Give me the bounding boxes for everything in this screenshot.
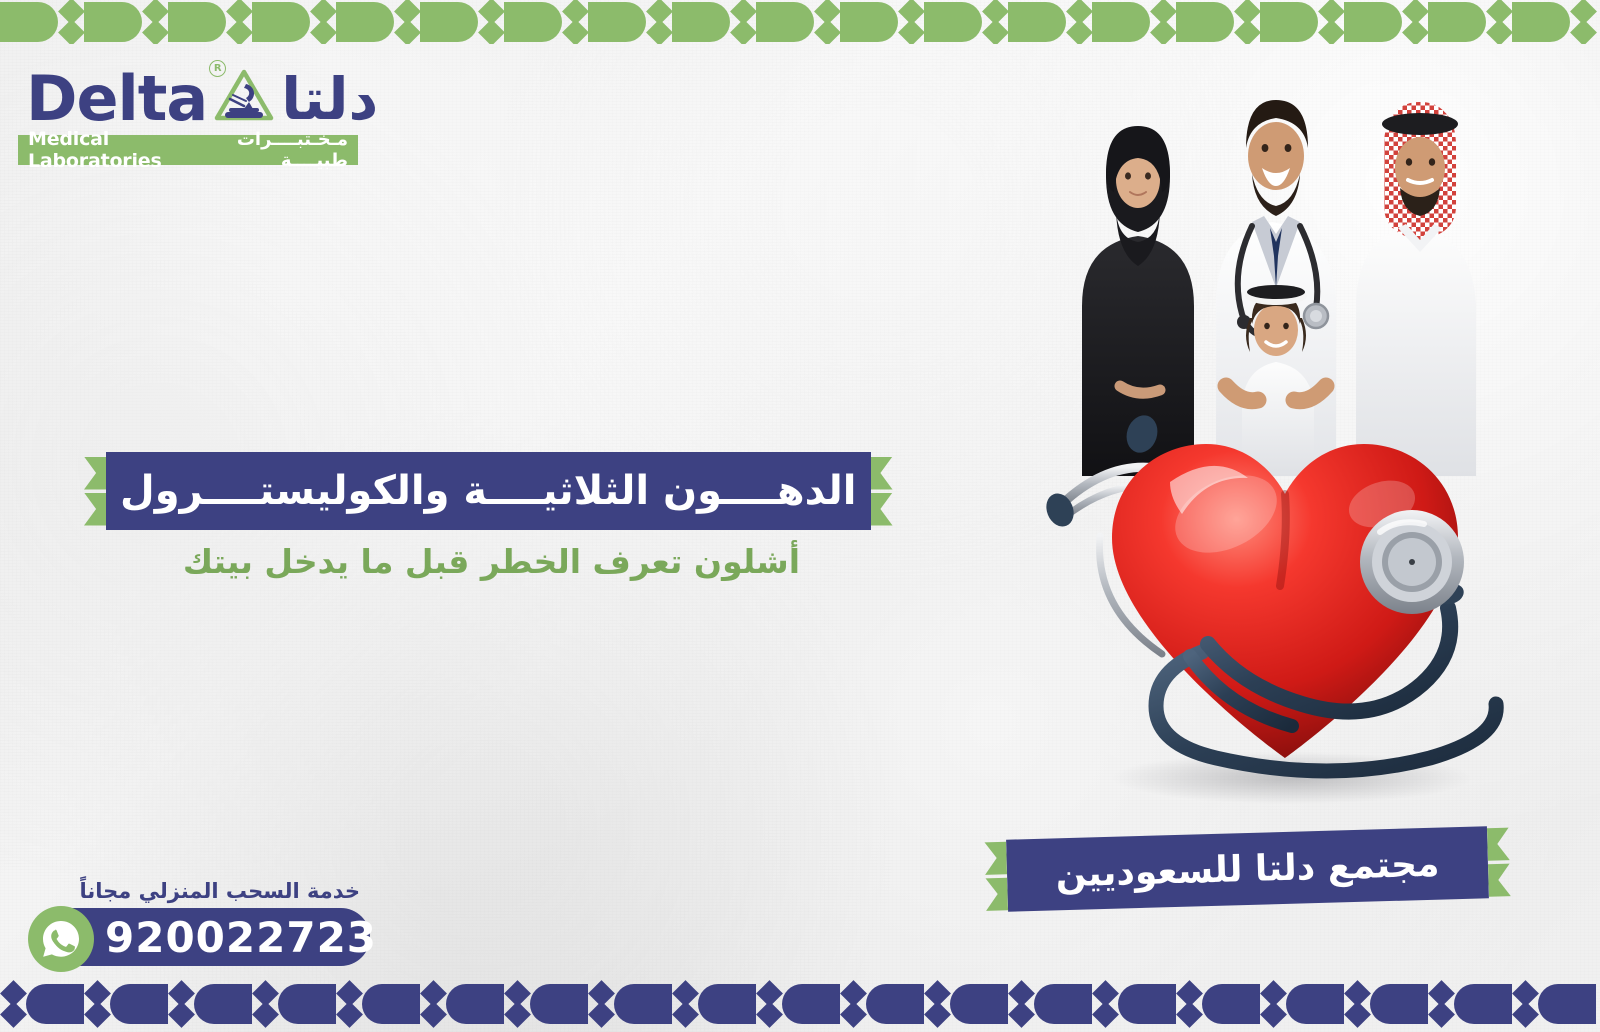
ornament-diamond-icon: [840, 982, 866, 1026]
ornament-unit: [1512, 0, 1596, 44]
ornament-diamond-icon: [1402, 0, 1428, 44]
headline-subtitle: أشلون تعرف الخطر قبل ما يدخل بيتك: [84, 542, 824, 581]
ornament-unit: [924, 982, 1008, 1026]
ornament-unit: [336, 0, 420, 44]
logo-wordmark-row: Delta R دلتا: [18, 58, 358, 130]
ornament-unit: [0, 0, 84, 44]
ornament-diamond-icon: [1260, 982, 1286, 1026]
ornament-diamond-icon: [924, 982, 950, 1026]
microscope-in-triangle-icon: R: [213, 66, 275, 128]
ornament-d-shape-icon: [1454, 984, 1512, 1024]
ornament-d-shape-icon: [252, 2, 310, 42]
ornament-diamond-icon: [226, 0, 252, 44]
ornament-diamond-icon: [478, 0, 504, 44]
top-ornamental-border: [0, 0, 1600, 44]
ornament-diamond-icon: [1008, 982, 1034, 1026]
community-banner: مجتمع دلتا للسعوديين: [984, 826, 1511, 913]
ornament-diamond-icon: [1486, 0, 1512, 44]
ornament-d-shape-icon: [698, 984, 756, 1024]
ornament-d-shape-icon: [1176, 2, 1234, 42]
ornament-d-shape-icon: [336, 2, 394, 42]
ornament-diamond-icon: [588, 982, 614, 1026]
ornament-unit: [1428, 982, 1512, 1026]
ornament-unit: [1092, 0, 1176, 44]
ornament-diamond-icon: [646, 0, 672, 44]
heart-stethoscope-svg: [1030, 386, 1540, 806]
whatsapp-glyph-icon: [39, 917, 83, 961]
ornament-d-shape-icon: [446, 984, 504, 1024]
ornament-diamond-icon: [420, 982, 446, 1026]
ornament-diamond-icon: [672, 982, 698, 1026]
ornament-d-shape-icon: [1260, 2, 1318, 42]
ornament-diamond-icon: [504, 982, 530, 1026]
logo-name-arabic: دلتا: [281, 68, 378, 130]
ornament-unit: [336, 982, 420, 1026]
ornament-unit: [168, 982, 252, 1026]
ornament-unit: [588, 982, 672, 1026]
ornament-unit: [1428, 0, 1512, 44]
right-chevron-ornament-icon: [871, 452, 893, 530]
ornament-d-shape-icon: [1202, 984, 1260, 1024]
ornament-diamond-icon: [898, 0, 924, 44]
ornament-diamond-icon: [562, 0, 588, 44]
delta-logo: Delta R دلتا Medical Laboratories مـخـتب…: [18, 58, 358, 165]
ornament-unit: [84, 982, 168, 1026]
ornament-diamond-icon: [168, 982, 194, 1026]
ornament-diamond-icon: [1318, 0, 1344, 44]
headline-bar: الدهــــون الثلاثيــــة والكوليستــــرول: [106, 452, 871, 530]
ornament-d-shape-icon: [924, 2, 982, 42]
ornament-unit: [588, 0, 672, 44]
ornament-diamond-icon: [730, 0, 756, 44]
ornament-unit: [252, 0, 336, 44]
ornament-diamond-icon: [58, 0, 84, 44]
ornament-d-shape-icon: [1538, 984, 1596, 1024]
headline-banner: الدهــــون الثلاثيــــة والكوليستــــرول: [84, 452, 824, 530]
ornament-diamond-icon: [252, 982, 278, 1026]
ornament-diamond-icon: [756, 982, 782, 1026]
ornament-d-shape-icon: [1428, 2, 1486, 42]
ornament-unit: [1008, 982, 1092, 1026]
logo-tagline-bar: Medical Laboratories مـخـتبــــرات طبيــ…: [18, 135, 358, 165]
ornament-diamond-icon: [394, 0, 420, 44]
ornament-d-shape-icon: [420, 2, 478, 42]
phone-row[interactable]: 920022723: [28, 906, 378, 970]
heart-with-stethoscope: [1030, 386, 1540, 806]
ornament-diamond-icon: [1234, 0, 1260, 44]
phone-number[interactable]: 920022723: [105, 913, 377, 962]
ornament-diamond-icon: [1176, 982, 1202, 1026]
whatsapp-icon[interactable]: [28, 906, 94, 972]
ornament-d-shape-icon: [1344, 2, 1402, 42]
ornament-d-shape-icon: [110, 984, 168, 1024]
ornament-d-shape-icon: [168, 2, 226, 42]
contact-block: خدمة السحب المنزلي مجاناً 920022723: [28, 879, 378, 970]
logo-tagline-arabic: مـخـتبــــرات طبيــــة: [202, 129, 348, 171]
hero-imagery: [1020, 56, 1540, 856]
service-note: خدمة السحب المنزلي مجاناً: [28, 879, 378, 903]
ornament-diamond-icon: [1092, 982, 1118, 1026]
ornament-d-shape-icon: [362, 984, 420, 1024]
ornament-d-shape-icon: [950, 984, 1008, 1024]
ornament-d-shape-icon: [194, 984, 252, 1024]
ornament-unit: [420, 982, 504, 1026]
ornament-diamond-icon: [1150, 0, 1176, 44]
banner-left-chevron-ornament-icon: [984, 840, 1008, 913]
ornament-d-shape-icon: [1118, 984, 1176, 1024]
headline-block: الدهــــون الثلاثيــــة والكوليستــــرول…: [84, 452, 824, 581]
ornament-unit: [1260, 0, 1344, 44]
ornament-unit: [840, 0, 924, 44]
ornament-unit: [1092, 982, 1176, 1026]
phone-pill[interactable]: 920022723: [70, 908, 370, 966]
ornament-unit: [420, 0, 504, 44]
ornament-d-shape-icon: [1370, 984, 1428, 1024]
ornament-d-shape-icon: [504, 2, 562, 42]
ornament-d-shape-icon: [84, 2, 142, 42]
ornament-unit: [504, 982, 588, 1026]
ornament-unit: [1176, 982, 1260, 1026]
advertisement-poster: Delta R دلتا Medical Laboratories مـخـتب…: [0, 0, 1600, 1032]
ornament-unit: [672, 0, 756, 44]
ornament-unit: [504, 0, 588, 44]
ornament-diamond-icon: [84, 982, 110, 1026]
ornament-d-shape-icon: [588, 2, 646, 42]
community-banner-text: مجتمع دلتا للسعوديين: [1055, 843, 1440, 895]
ornament-d-shape-icon: [278, 984, 336, 1024]
ornament-unit: [1008, 0, 1092, 44]
left-chevron-ornament-icon: [84, 452, 106, 530]
ornament-unit: [1260, 982, 1344, 1026]
ornament-diamond-icon: [1428, 982, 1454, 1026]
logo-name-english: Delta: [26, 68, 207, 130]
ornament-d-shape-icon: [672, 2, 730, 42]
ornament-unit: [756, 982, 840, 1026]
ornament-d-shape-icon: [866, 984, 924, 1024]
ornament-d-shape-icon: [1092, 2, 1150, 42]
ornament-d-shape-icon: [840, 2, 898, 42]
ornament-diamond-icon: [1066, 0, 1092, 44]
community-banner-bar: مجتمع دلتا للسعوديين: [1006, 826, 1489, 911]
ornament-d-shape-icon: [1512, 2, 1570, 42]
ornament-unit: [1176, 0, 1260, 44]
ornament-d-shape-icon: [0, 2, 58, 42]
bottom-ornamental-border: [0, 976, 1600, 1032]
ornament-diamond-icon: [0, 982, 26, 1026]
ornament-unit: [0, 982, 84, 1026]
ornament-d-shape-icon: [26, 984, 84, 1024]
ornament-diamond-icon: [1570, 0, 1596, 44]
ornament-unit: [756, 0, 840, 44]
ornament-diamond-icon: [336, 982, 362, 1026]
ornament-unit: [168, 0, 252, 44]
ornament-unit: [840, 982, 924, 1026]
ornament-d-shape-icon: [1008, 2, 1066, 42]
ornament-d-shape-icon: [1286, 984, 1344, 1024]
ornament-d-shape-icon: [756, 2, 814, 42]
ornament-d-shape-icon: [782, 984, 840, 1024]
headline-title: الدهــــون الثلاثيــــة والكوليستــــرول: [120, 468, 857, 514]
ornament-unit: [252, 982, 336, 1026]
ornament-diamond-icon: [310, 0, 336, 44]
ornament-diamond-icon: [1344, 982, 1370, 1026]
ornament-diamond-icon: [1512, 982, 1538, 1026]
banner-right-chevron-ornament-icon: [1487, 826, 1511, 899]
ornament-unit: [84, 0, 168, 44]
ornament-diamond-icon: [142, 0, 168, 44]
ornament-unit: [924, 0, 1008, 44]
ornament-unit: [1344, 0, 1428, 44]
logo-tagline-english: Medical Laboratories: [28, 128, 202, 172]
ornament-unit: [1344, 982, 1428, 1026]
ornament-d-shape-icon: [1034, 984, 1092, 1024]
ornament-d-shape-icon: [530, 984, 588, 1024]
ornament-diamond-icon: [814, 0, 840, 44]
ornament-unit: [672, 982, 756, 1026]
ornament-d-shape-icon: [614, 984, 672, 1024]
ornament-unit: [1512, 982, 1596, 1026]
ornament-diamond-icon: [982, 0, 1008, 44]
